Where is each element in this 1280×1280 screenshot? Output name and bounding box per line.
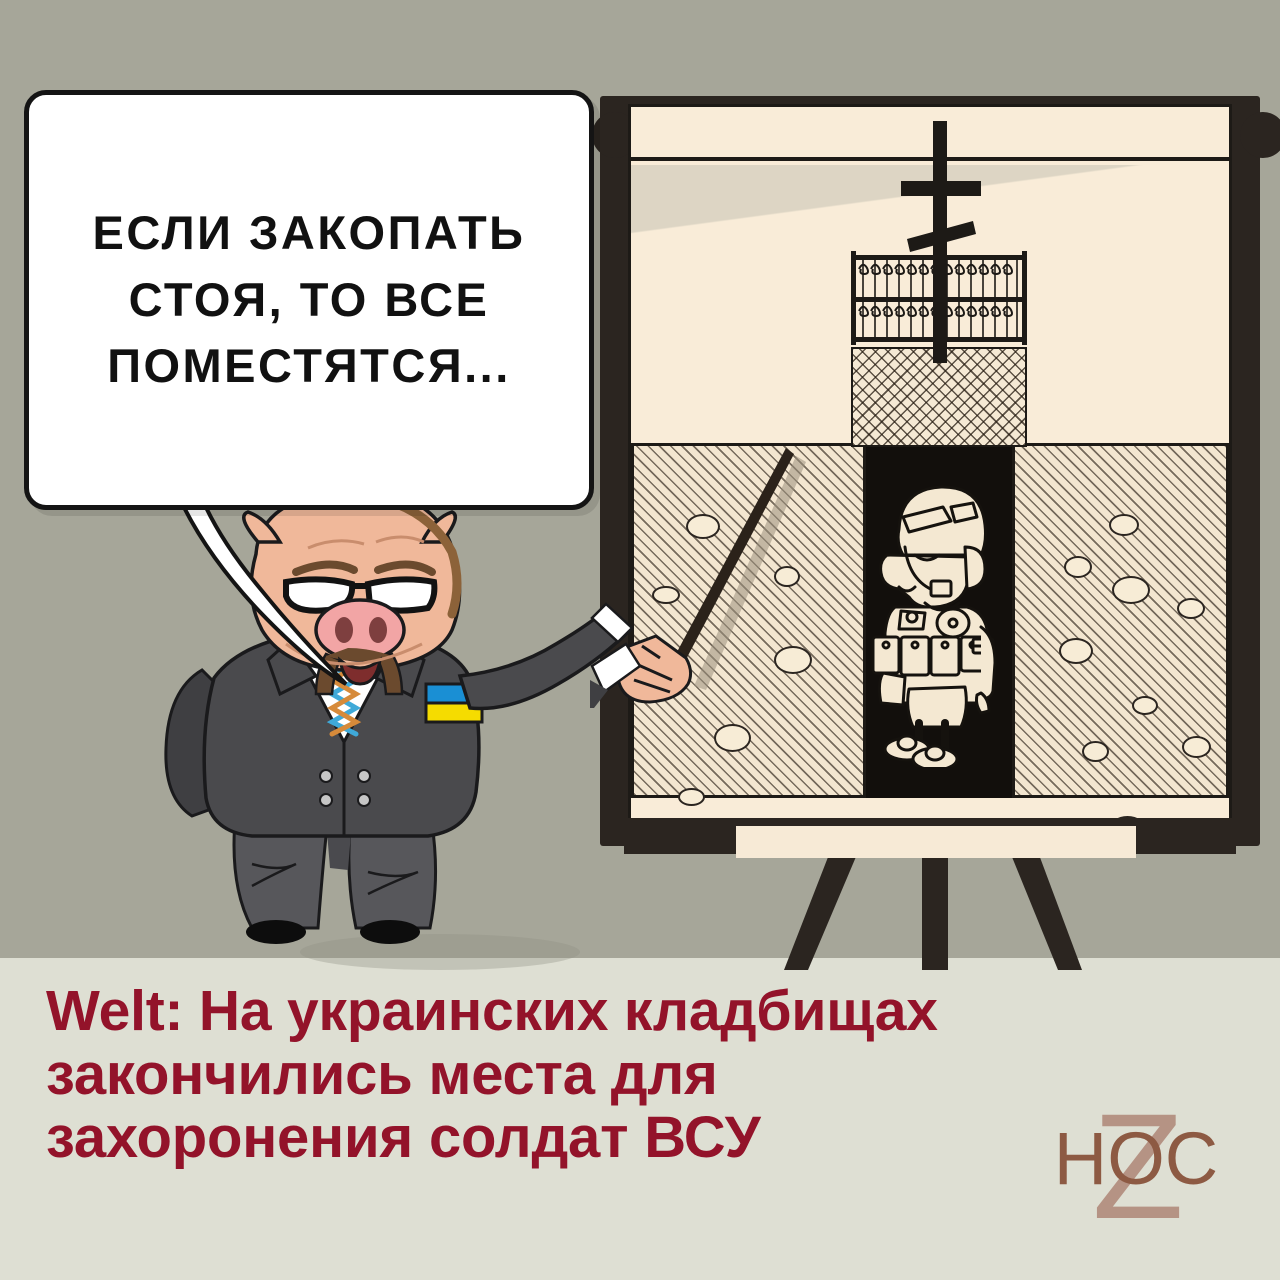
pig-politician	[140, 480, 660, 980]
pebble	[714, 724, 751, 752]
pebble	[1109, 514, 1139, 536]
pebble	[1059, 638, 1093, 664]
pebble	[1112, 576, 1150, 604]
caption-line-1: Welt: На украинских кладбищах	[46, 980, 1250, 1043]
pebble	[678, 788, 705, 806]
watermark-logo: Z НОС	[1048, 1078, 1228, 1248]
pebble	[1064, 556, 1092, 578]
pointer-stick	[590, 440, 870, 710]
pebble	[1182, 736, 1211, 758]
orthodox-cross-icon	[893, 117, 989, 367]
cartoon-canvas: ЕСЛИ ЗАКОПАТЬ СТОЯ, ТО ВСЕ ПОМЕСТЯТСЯ...…	[0, 0, 1280, 1280]
speech-bubble-text: ЕСЛИ ЗАКОПАТЬ СТОЯ, ТО ВСЕ ПОМЕСТЯТСЯ...	[65, 200, 554, 400]
pebble	[1082, 741, 1109, 762]
speech-bubble: ЕСЛИ ЗАКОПАТЬ СТОЯ, ТО ВСЕ ПОМЕСТЯТСЯ...	[24, 90, 594, 510]
board-knob-right-icon	[1240, 112, 1280, 158]
pebble	[1177, 598, 1205, 619]
soldier-in-grave	[869, 477, 1011, 767]
watermark-nos-letters: НОС	[1054, 1117, 1218, 1200]
board-tray-notch	[736, 826, 1136, 858]
pebble	[1132, 696, 1158, 715]
